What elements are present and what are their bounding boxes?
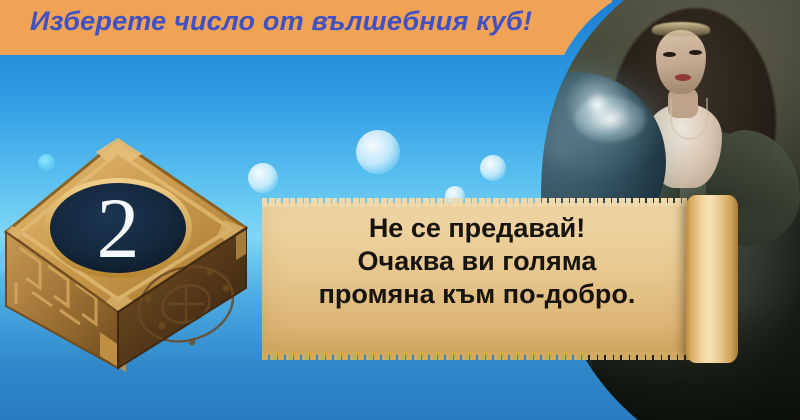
page-title: Изберете число от вълшебния куб! (30, 6, 532, 37)
fortune-teller-face (656, 30, 706, 94)
magic-cube[interactable]: 2 (0, 136, 264, 372)
promo-card: 2 (0, 0, 800, 420)
header-banner: Изберете число от вълшебния куб! (0, 0, 612, 55)
fortune-teller-eye-left (663, 52, 676, 57)
scroll-top-edge (262, 198, 692, 207)
fortune-line-2: Очаква ви голяма (270, 245, 684, 278)
fortune-message: Не се предавай! Очаква ви голяма промяна… (270, 212, 684, 311)
crystal-ball-highlight (574, 96, 646, 142)
fortune-teller-lips (675, 74, 691, 81)
scroll-bottom-edge (262, 351, 692, 360)
fortune-scroll: Не се предавай! Очаква ви голяма промяна… (262, 203, 754, 359)
fortune-teller-headpiece (652, 22, 710, 36)
fortune-line-1: Не се предавай! (270, 212, 684, 245)
scroll-paper: Не се предавай! Очаква ви голяма промяна… (262, 203, 692, 355)
fortune-line-3: промяна към по-добро. (270, 278, 684, 311)
scroll-curl (686, 195, 738, 363)
fortune-teller-necklace (670, 98, 708, 140)
background-orb-3 (480, 155, 506, 181)
fortune-teller-eye-right (689, 50, 702, 55)
cube-illustration: 2 (0, 136, 264, 372)
background-orb-1 (356, 130, 400, 174)
cube-number: 2 (97, 180, 140, 276)
